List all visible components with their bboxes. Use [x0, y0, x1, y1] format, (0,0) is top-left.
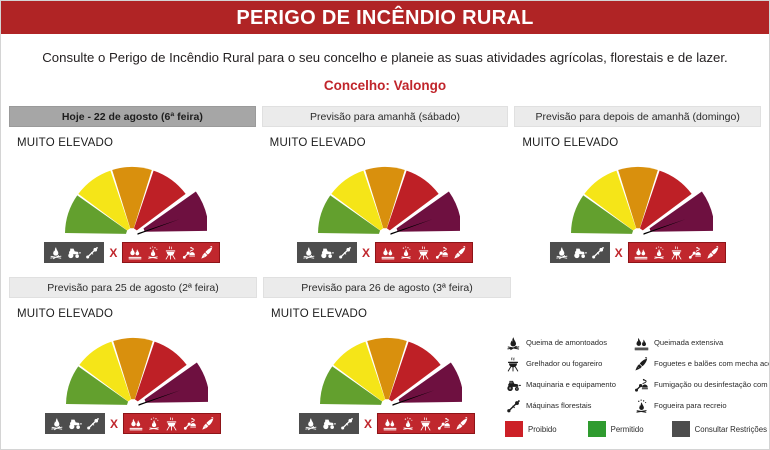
maquinaria-equipamento-icon [573, 246, 587, 260]
prohibition-x-mark: X [362, 247, 370, 259]
legend-color-item: Proibido [505, 421, 588, 437]
color-swatch [672, 421, 690, 437]
foguetes-baloes-icon [200, 246, 214, 260]
queimada-extensiva-icon [633, 336, 650, 351]
panel-body: MUITO ELEVADOX [9, 127, 256, 269]
legend-item-label: Máquinas florestais [526, 402, 591, 410]
maquinaria-equipamento-icon [67, 246, 81, 260]
concelho-label: Concelho: Valongo [1, 78, 769, 94]
maquinaria-equipamento-icon [320, 246, 334, 260]
forbidden-activities-strip [123, 413, 221, 434]
queimada-extensiva-icon [381, 246, 395, 260]
foguetes-baloes-icon [453, 246, 467, 260]
prohibition-x-mark: X [364, 418, 372, 430]
allowed-activities-strip [297, 242, 357, 263]
legend-item-label: Grelhador ou fogareiro [526, 360, 602, 368]
legend-item-label: Maquinaria e equipamento [526, 381, 616, 389]
legend-item-label: Fogueira para recreio [654, 402, 727, 410]
forecast-row-1: Hoje - 22 de agosto (6ª feira)MUITO ELEV… [9, 106, 761, 269]
panel-header[interactable]: Hoje - 22 de agosto (6ª feira) [9, 106, 256, 127]
legend-item: Máquinas florestais [505, 396, 633, 416]
legend-item-label: Queima de amontoados [526, 339, 607, 347]
queima-amontoados-icon [50, 417, 64, 431]
maquinaria-equipamento-icon [68, 417, 82, 431]
maquinaria-equipamento-icon [322, 417, 336, 431]
panel-body: MUITO ELEVADOX [514, 127, 761, 269]
legend-item: Queimada extensiva [633, 333, 767, 353]
fogueira-recreio-icon [652, 246, 666, 260]
maquinas-florestais-icon [85, 246, 99, 260]
legend-color-label: Consultar Restrições [695, 425, 767, 434]
grelhador-fogareiro-icon [164, 246, 178, 260]
risk-level-label: MUITO ELEVADO [271, 308, 367, 320]
legend-item-label: Fumigação ou desinfestação com fogo [654, 381, 770, 389]
allowed-activities-strip [299, 413, 359, 434]
panel-header[interactable]: Previsão para 25 de agosto (2ª feira) [9, 277, 257, 298]
fogueira-recreio-icon [633, 399, 650, 414]
panel-header[interactable]: Previsão para depois de amanhã (domingo) [514, 106, 761, 127]
forecast-panel: Previsão para 25 de agosto (2ª feira)MUI… [9, 277, 257, 440]
fumigacao-fogo-icon [435, 246, 449, 260]
panel-header[interactable]: Previsão para amanhã (sábado) [262, 106, 509, 127]
grelhador-fogareiro-icon [419, 417, 433, 431]
queimada-extensiva-icon [634, 246, 648, 260]
activity-strips: X [45, 413, 221, 434]
queimada-extensiva-icon [129, 417, 143, 431]
allowed-activities-strip [550, 242, 610, 263]
legend-item: Fogueira para recreio [633, 396, 767, 416]
panel-body: MUITO ELEVADOX [263, 298, 511, 440]
legend-items: Queima de amontoadosQueimada extensivaGr… [505, 333, 767, 416]
legend-item: Foguetes e balões com mecha acesa [633, 354, 767, 374]
risk-gauge [310, 155, 460, 239]
fumigacao-fogo-icon [183, 417, 197, 431]
foguetes-baloes-icon [633, 357, 650, 372]
maquinas-florestais-icon [505, 399, 522, 414]
grelhador-fogareiro-icon [505, 357, 522, 372]
color-swatch [588, 421, 606, 437]
queimada-extensiva-icon [128, 246, 142, 260]
legend-color-label: Permitido [611, 425, 644, 434]
queima-amontoados-icon [304, 417, 318, 431]
legend-item: Maquinaria e equipamento [505, 375, 633, 395]
forbidden-activities-strip [377, 413, 475, 434]
queima-amontoados-icon [49, 246, 63, 260]
foguetes-baloes-icon [201, 417, 215, 431]
allowed-activities-strip [44, 242, 104, 263]
queimada-extensiva-icon [383, 417, 397, 431]
legend-color-key: ProibidoPermitidoConsultar Restrições [505, 421, 767, 437]
legend-color-label: Proibido [528, 425, 557, 434]
risk-level-label: MUITO ELEVADO [270, 137, 366, 149]
risk-level-label: MUITO ELEVADO [17, 308, 113, 320]
prohibition-x-mark: X [110, 418, 118, 430]
panel-header[interactable]: Previsão para 26 de agosto (3ª feira) [263, 277, 511, 298]
queima-amontoados-icon [505, 336, 522, 351]
legend: Queima de amontoadosQueimada extensivaGr… [505, 333, 767, 437]
legend-item: Grelhador ou fogareiro [505, 354, 633, 374]
forecast-panel: Hoje - 22 de agosto (6ª feira)MUITO ELEV… [9, 106, 256, 269]
risk-gauge [57, 155, 207, 239]
legend-item: Queima de amontoados [505, 333, 633, 353]
fogueira-recreio-icon [146, 246, 160, 260]
grelhador-fogareiro-icon [417, 246, 431, 260]
color-swatch [505, 421, 523, 437]
legend-item-label: Queimada extensiva [654, 339, 723, 347]
prohibition-x-mark: X [615, 247, 623, 259]
legend-item: Fumigação ou desinfestação com fogo [633, 375, 767, 395]
risk-level-label: MUITO ELEVADO [17, 137, 113, 149]
foguetes-baloes-icon [455, 417, 469, 431]
fire-danger-page: PERIGO DE INCÊNDIO RURAL Consulte o Peri… [0, 0, 770, 450]
intro-text: Consulte o Perigo de Incêndio Rural para… [1, 50, 769, 66]
panel-body: MUITO ELEVADOX [9, 298, 257, 440]
forbidden-activities-strip [628, 242, 726, 263]
fumigacao-fogo-icon [182, 246, 196, 260]
risk-gauge [58, 326, 208, 410]
maquinas-florestais-icon [340, 417, 354, 431]
fogueira-recreio-icon [401, 417, 415, 431]
fumigacao-fogo-icon [688, 246, 702, 260]
forbidden-activities-strip [375, 242, 473, 263]
queima-amontoados-icon [302, 246, 316, 260]
maquinas-florestais-icon [591, 246, 605, 260]
forecast-panel: Previsão para 26 de agosto (3ª feira)MUI… [263, 277, 511, 440]
foguetes-baloes-icon [706, 246, 720, 260]
fumigacao-fogo-icon [437, 417, 451, 431]
page-banner: PERIGO DE INCÊNDIO RURAL [1, 1, 769, 34]
legend-item-label: Foguetes e balões com mecha acesa [654, 360, 770, 368]
forecast-panel: Previsão para depois de amanhã (domingo)… [514, 106, 761, 269]
page-title: PERIGO DE INCÊNDIO RURAL [236, 8, 533, 28]
fogueira-recreio-icon [399, 246, 413, 260]
legend-color-item: Consultar Restrições [672, 421, 767, 437]
activity-strips: X [550, 242, 726, 263]
risk-gauge [312, 326, 462, 410]
panel-body: MUITO ELEVADOX [262, 127, 509, 269]
forbidden-activities-strip [122, 242, 220, 263]
maquinaria-equipamento-icon [505, 378, 522, 393]
fumigacao-fogo-icon [633, 378, 650, 393]
grelhador-fogareiro-icon [670, 246, 684, 260]
fogueira-recreio-icon [147, 417, 161, 431]
allowed-activities-strip [45, 413, 105, 434]
activity-strips: X [44, 242, 220, 263]
maquinas-florestais-icon [338, 246, 352, 260]
queima-amontoados-icon [555, 246, 569, 260]
activity-strips: X [297, 242, 473, 263]
forecast-panel: Previsão para amanhã (sábado)MUITO ELEVA… [262, 106, 509, 269]
risk-level-label: MUITO ELEVADO [522, 137, 618, 149]
prohibition-x-mark: X [109, 247, 117, 259]
grelhador-fogareiro-icon [165, 417, 179, 431]
maquinas-florestais-icon [86, 417, 100, 431]
activity-strips: X [299, 413, 475, 434]
legend-color-item: Permitido [588, 421, 672, 437]
risk-gauge [563, 155, 713, 239]
